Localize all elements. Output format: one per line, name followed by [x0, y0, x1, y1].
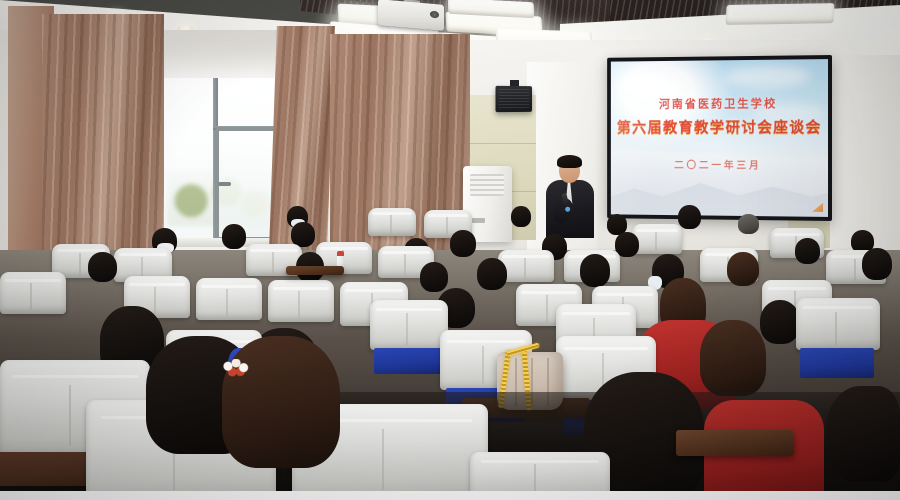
projection-screen: 河南省医药卫生学校 第六届教育教学研讨会座谈会 二〇二一年三月 — [611, 59, 828, 217]
attendee-head — [477, 258, 507, 290]
attendee-head — [826, 386, 900, 482]
attendee-head — [450, 230, 476, 257]
attendee-head — [795, 238, 820, 264]
attendee-head — [511, 206, 531, 227]
seat-cover — [368, 208, 416, 236]
attendee-head — [738, 214, 759, 234]
auditorium-seat — [370, 300, 448, 350]
ac-vent — [470, 174, 504, 196]
standing-presenter — [543, 158, 595, 238]
auditorium-seat — [0, 272, 66, 314]
attendee-head — [760, 300, 800, 344]
conference-room-photo: 河南省医药卫生学校 第六届教育教学研讨会座谈会 二〇二一年三月 — [0, 0, 900, 500]
auditorium-seat — [632, 224, 682, 254]
projection-screen-frame: 河南省医药卫生学校 第六届教育教学研讨会座谈会 二〇二一年三月 — [607, 55, 832, 221]
seat-cover — [196, 278, 262, 320]
projector-lens — [430, 11, 439, 19]
auditorium-seat — [796, 298, 880, 350]
slide-mountain-silhouette — [611, 166, 828, 217]
seat-cover — [632, 224, 682, 254]
tablet-desk — [286, 266, 344, 275]
presenter-hair — [557, 155, 582, 168]
seat-cover — [796, 298, 880, 350]
beaded-hair-tie — [222, 359, 249, 377]
window-handle — [218, 182, 231, 186]
tablet-desk — [676, 430, 794, 456]
attendee-head — [88, 252, 117, 282]
slide-date-text: 二〇二一年三月 — [611, 156, 828, 172]
bottle-cap — [337, 251, 344, 256]
ceiling-panel-light — [726, 3, 835, 25]
image-bottom-border — [0, 491, 900, 500]
slide-title-text: 第六届教育教学研讨会座谈会 — [611, 116, 828, 137]
attendee-head — [700, 320, 766, 396]
seat-cover — [0, 272, 66, 314]
attendee-head — [222, 336, 340, 468]
seat-base — [800, 348, 874, 378]
slide-organization-text: 河南省医药卫生学校 — [611, 95, 828, 112]
seat-cover — [370, 300, 448, 350]
auditorium-seat — [268, 280, 334, 322]
seat-cover — [268, 280, 334, 322]
daylight-window — [163, 78, 281, 243]
seat-base — [374, 348, 442, 374]
attendee-head — [580, 254, 610, 287]
auditorium-seat — [368, 208, 416, 236]
slide-cloud — [724, 65, 810, 88]
attendee-head — [862, 248, 892, 280]
attendee-head — [222, 224, 246, 249]
attendee-head — [727, 252, 759, 286]
attendee-head — [420, 262, 448, 292]
auditorium-seat — [196, 278, 262, 320]
speaker-grill — [498, 89, 529, 109]
wall-speaker — [495, 86, 532, 112]
ac-display — [472, 218, 485, 223]
slide-cloud — [618, 72, 684, 98]
